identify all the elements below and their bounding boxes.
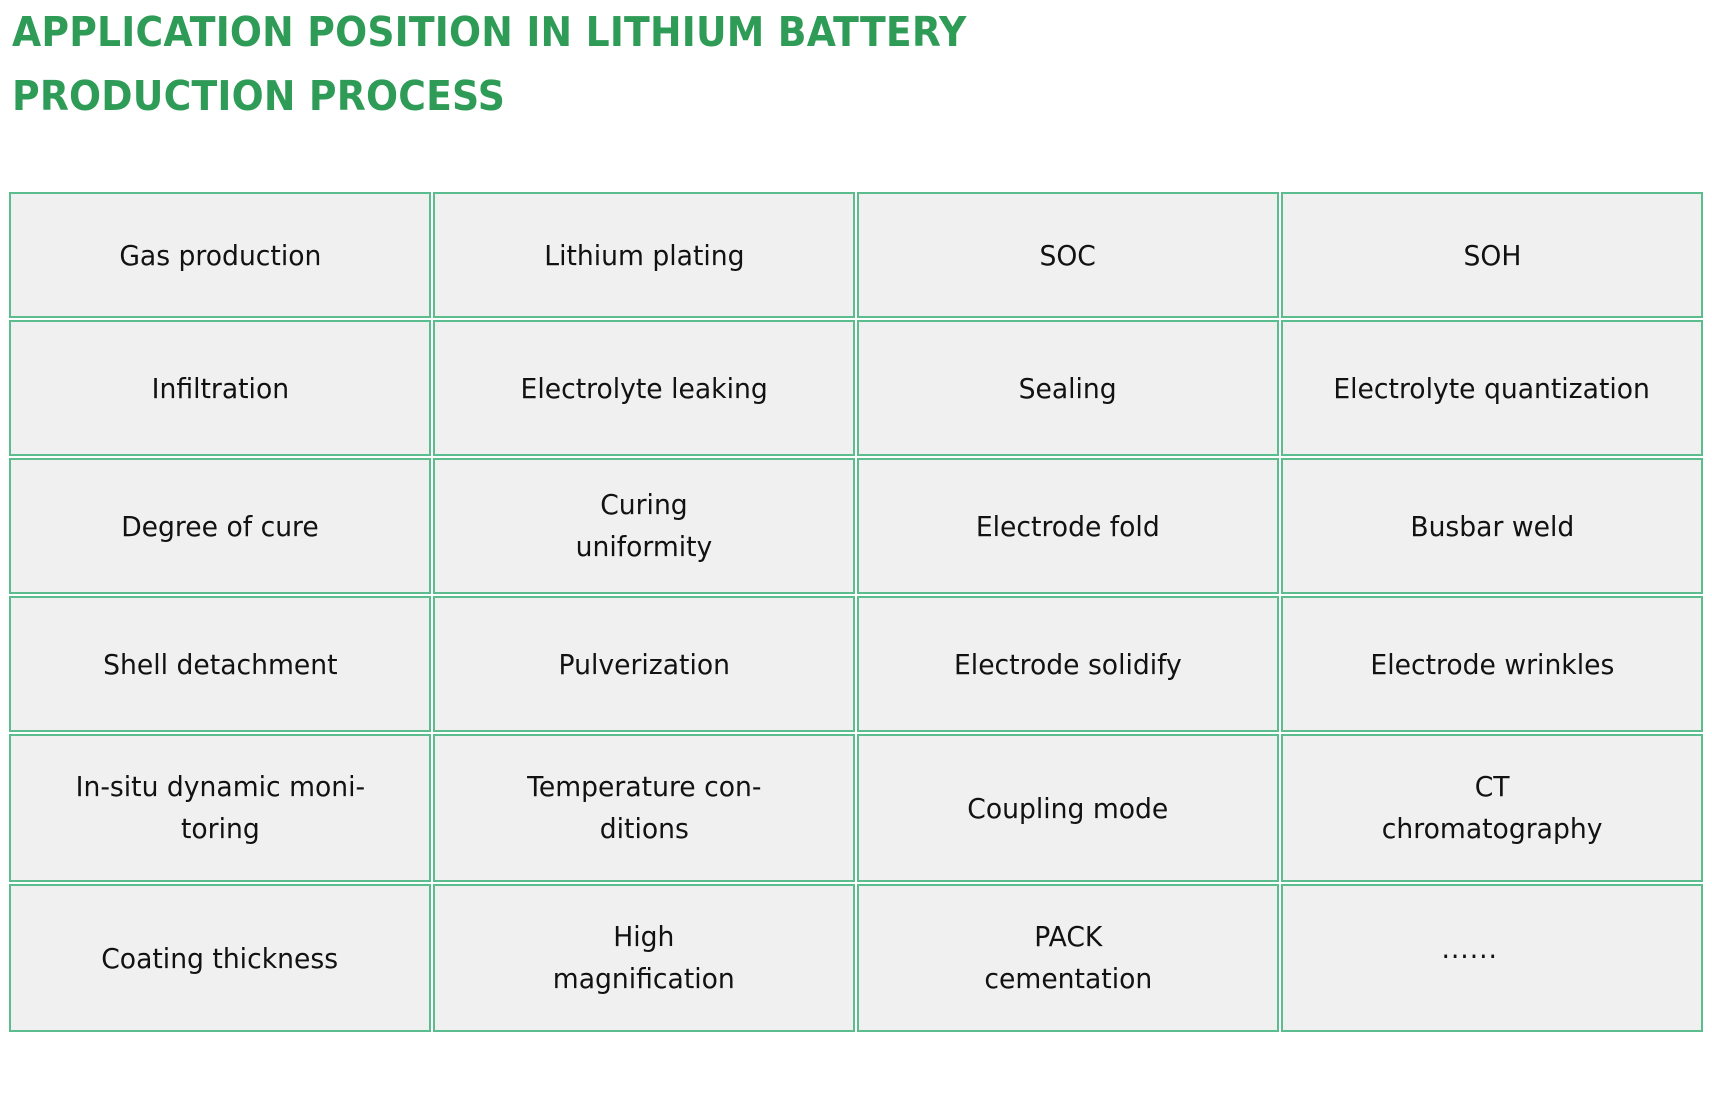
table-cell-label: ......: [1442, 929, 1498, 968]
table-cell-label: Electrode solidify: [954, 645, 1182, 684]
table-cell-label: Electrolyte quantization: [1334, 369, 1651, 408]
table-cell-r5c3: Coupling mode: [857, 734, 1279, 882]
table-cell-label: Electrolyte leaking: [520, 369, 767, 408]
table-cell-label: Sealing: [1019, 369, 1117, 408]
table-cell-label: SOC: [1040, 236, 1096, 275]
table-cell-r1c4: SOH: [1281, 192, 1703, 318]
table-cell-r4c1: Shell detachment: [9, 596, 431, 732]
table-cell-label: High magnification: [553, 916, 735, 1000]
table-cell-r4c4: Electrode wrinkles: [1281, 596, 1703, 732]
table-cell-r6c1: Coating thickness: [9, 884, 431, 1032]
application-matrix-table: Gas production Lithium plating SOC SOH I…: [8, 191, 1704, 1104]
table-cell-label: PACK cementation: [984, 916, 1152, 1000]
table-cell-r1c1: Gas production: [9, 192, 431, 318]
table-cell-r4c2: Pulverization: [433, 596, 855, 732]
table-cell-r3c1: Degree of cure: [9, 458, 431, 594]
table-cell-label: SOH: [1463, 236, 1521, 275]
table-cell-r2c1: Infiltration: [9, 320, 431, 456]
table-cell-label: Temperature con- ditions: [527, 766, 761, 850]
table-cell-r2c3: Sealing: [857, 320, 1279, 456]
table-cell-label: Lithium plating: [544, 236, 744, 275]
table-cell-r3c4: Busbar weld: [1281, 458, 1703, 594]
table-cell-r5c2: Temperature con- ditions: [433, 734, 855, 882]
table-cell-label: Busbar weld: [1410, 507, 1574, 546]
table-cell-r6c4: ......: [1281, 884, 1703, 1032]
slide-root: APPLICATION POSITION IN LITHIUM BATTERY …: [0, 0, 1712, 1108]
table-cell-r5c1: In-situ dynamic moni- toring: [9, 734, 431, 882]
table-cell-r5c4: CT chromatography: [1281, 734, 1703, 882]
table-cell-r2c2: Electrolyte leaking: [433, 320, 855, 456]
table-cell-label: Gas production: [119, 236, 321, 275]
table-cell-r1c3: SOC: [857, 192, 1279, 318]
table-cell-label: CT chromatography: [1382, 766, 1603, 850]
table-cell-r4c3: Electrode solidify: [857, 596, 1279, 732]
table-cell-label: Electrode wrinkles: [1370, 645, 1614, 684]
table-cell-r1c2: Lithium plating: [433, 192, 855, 318]
table-cell-label: Electrode fold: [976, 507, 1160, 546]
table-cell-label: Infiltration: [151, 369, 288, 408]
table-cell-r2c4: Electrolyte quantization: [1281, 320, 1703, 456]
table-cell-label: Coupling mode: [967, 789, 1168, 828]
page-title-line-2: PRODUCTION PROCESS: [12, 64, 1098, 128]
table-cell-r6c3: PACK cementation: [857, 884, 1279, 1032]
table-cell-label: In-situ dynamic moni- toring: [75, 766, 364, 850]
page-title-line-1: APPLICATION POSITION IN LITHIUM BATTERY: [12, 0, 1098, 64]
table-cell-r3c3: Electrode fold: [857, 458, 1279, 594]
table-cell-label: Pulverization: [558, 645, 729, 684]
table-cell-label: Degree of cure: [121, 507, 319, 546]
table-cell-r6c2: High magnification: [433, 884, 855, 1032]
table-cell-label: Curing uniformity: [576, 484, 713, 568]
page-title: APPLICATION POSITION IN LITHIUM BATTERY …: [12, 0, 1192, 128]
table-cell-label: Coating thickness: [102, 939, 339, 978]
table-cell-label: Shell detachment: [103, 645, 337, 684]
table-cell-r3c2: Curing uniformity: [433, 458, 855, 594]
